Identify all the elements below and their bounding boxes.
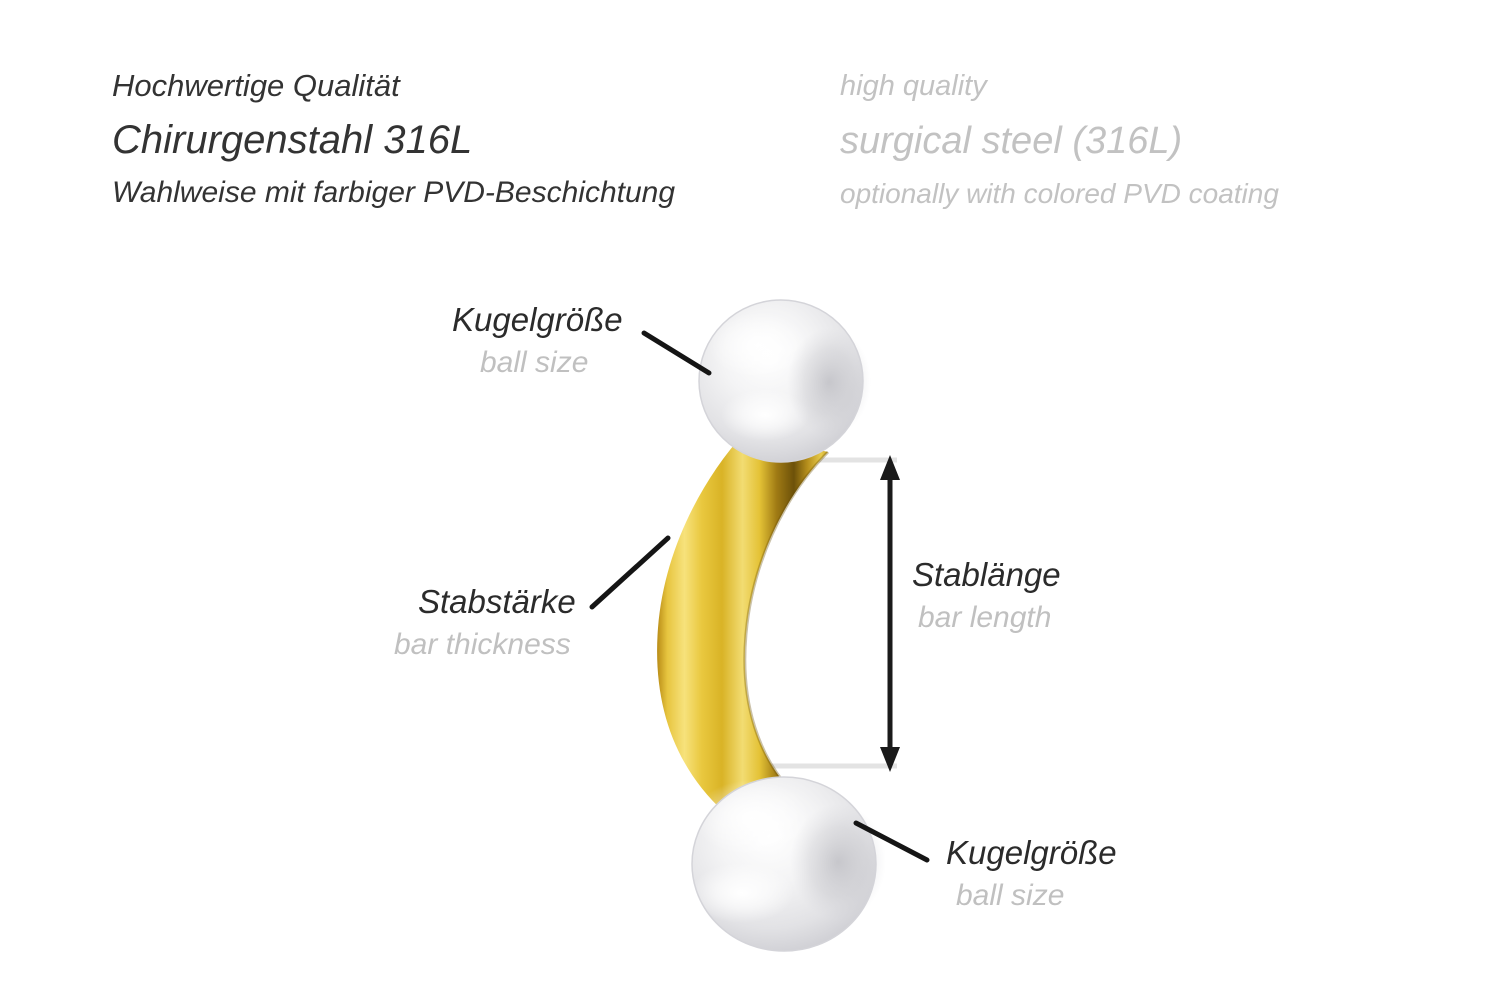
dimension-line-bar-length	[880, 455, 900, 772]
callout-bar-thickness: Stabstärke bar thickness	[418, 585, 576, 660]
callout-bar-length: Stablänge bar length	[912, 558, 1061, 633]
callout-ball-size-bottom: Kugelgröße ball size	[946, 836, 1117, 911]
leader-line-ball-top	[644, 333, 709, 373]
callout-ball-size-top-english: ball size	[480, 348, 623, 378]
callout-bar-thickness-english: bar thickness	[394, 630, 576, 660]
callout-ball-size-top-german: Kugelgröße	[452, 303, 623, 336]
ball-bottom	[690, 777, 886, 951]
callout-bar-thickness-german: Stabstärke	[418, 585, 576, 618]
callout-ball-size-bottom-english: ball size	[956, 881, 1117, 911]
product-diagram-canvas: Hochwertige Qualität Chirurgenstahl 316L…	[0, 0, 1500, 1001]
ball-top	[699, 300, 871, 462]
callout-bar-length-german: Stablänge	[912, 558, 1061, 591]
leader-line-bar-thickness	[592, 538, 668, 607]
piercing-illustration	[0, 0, 1500, 1001]
callout-bar-length-english: bar length	[918, 603, 1061, 633]
callout-ball-size-top: Kugelgröße ball size	[452, 303, 623, 378]
callout-ball-size-bottom-german: Kugelgröße	[946, 836, 1117, 869]
gold-bar	[657, 432, 828, 812]
